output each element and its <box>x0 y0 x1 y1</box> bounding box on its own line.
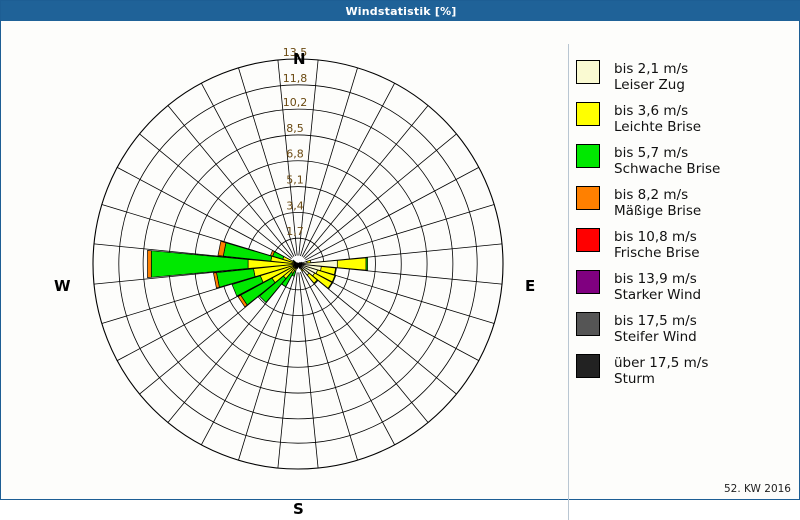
legend-label: bis 8,2 m/sMäßige Brise <box>614 186 701 219</box>
legend-label: über 17,5 m/sSturm <box>614 354 708 387</box>
grid-spoke <box>303 270 428 422</box>
legend-color-swatch <box>576 270 600 294</box>
legend-beaufort-name: Starker Wind <box>614 287 701 303</box>
grid-spoke <box>305 167 478 260</box>
compass-label-west: W <box>54 277 71 295</box>
legend-item: bis 2,1 m/sLeiser Zug <box>576 60 791 93</box>
legend-color-swatch <box>576 102 600 126</box>
compass-label-south: S <box>293 500 304 518</box>
legend-label: bis 17,5 m/sSteifer Wind <box>614 312 697 345</box>
legend-color-swatch <box>576 354 600 378</box>
windrose-petals <box>148 241 368 307</box>
legend-item: bis 17,5 m/sSteifer Wind <box>576 312 791 345</box>
legend-beaufort-name: Leichte Brise <box>614 119 701 135</box>
radial-tick-label: 10,2 <box>283 96 308 109</box>
legend-speed-range: bis 17,5 m/s <box>614 313 697 329</box>
grid-spoke <box>168 106 293 258</box>
radial-tick-label: 5,1 <box>286 174 304 187</box>
window-title: Windstatistik [%] <box>345 5 456 18</box>
legend-item: über 17,5 m/sSturm <box>576 354 791 387</box>
grid-spoke <box>140 134 292 259</box>
window-title-bar: Windstatistik [%] <box>1 1 800 21</box>
plot-area: 1,73,45,16,88,510,211,813,5 N S W E bis … <box>2 22 799 499</box>
legend-speed-range: bis 8,2 m/s <box>614 187 701 203</box>
legend-item: bis 8,2 m/sMäßige Brise <box>576 186 791 219</box>
grid-spoke <box>306 204 494 261</box>
windrose-wedge <box>148 250 152 277</box>
legend-beaufort-name: Frische Brise <box>614 245 700 261</box>
legend-speed-range: bis 2,1 m/s <box>614 61 688 77</box>
legend-beaufort-name: Sturm <box>614 371 708 387</box>
legend-beaufort-name: Steifer Wind <box>614 329 697 345</box>
legend-item: bis 10,8 m/sFrische Brise <box>576 228 791 261</box>
radial-tick-label: 1,7 <box>286 225 304 238</box>
grid-spoke <box>302 83 395 256</box>
legend-speed-range: bis 13,9 m/s <box>614 271 701 287</box>
radial-tick-labels: 1,73,45,16,88,510,211,813,5 <box>283 46 308 238</box>
legend-label: bis 3,6 m/sLeichte Brise <box>614 102 701 135</box>
compass-label-north: N <box>293 50 306 68</box>
legend-item: bis 5,7 m/sSchwache Brise <box>576 144 791 177</box>
legend-color-swatch <box>576 312 600 336</box>
radial-tick-label: 3,4 <box>286 199 304 212</box>
legend-beaufort-name: Mäßige Brise <box>614 203 701 219</box>
grid-spoke <box>303 106 428 258</box>
legend-color-swatch <box>576 144 600 168</box>
legend-color-swatch <box>576 60 600 84</box>
legend-divider <box>568 44 569 520</box>
grid-spoke <box>201 83 294 256</box>
legend-label: bis 2,1 m/sLeiser Zug <box>614 60 688 93</box>
windrose-window: Windstatistik [%] 1,73,45,16,88,510,211,… <box>0 0 800 500</box>
grid-spoke <box>117 167 290 260</box>
legend-label: bis 5,7 m/sSchwache Brise <box>614 144 720 177</box>
grid-spoke <box>304 134 456 259</box>
grid-spoke <box>302 271 395 444</box>
windrose-wedge <box>366 258 368 271</box>
grid-spoke <box>278 272 297 468</box>
legend-color-swatch <box>576 228 600 252</box>
legend-speed-range: bis 3,6 m/s <box>614 103 701 119</box>
radial-tick-label: 6,8 <box>286 148 304 161</box>
footer-note: 52. KW 2016 <box>724 483 791 495</box>
compass-label-east: E <box>525 277 535 295</box>
legend: bis 2,1 m/sLeiser Zugbis 3,6 m/sLeichte … <box>576 60 791 396</box>
radial-tick-label: 11,8 <box>283 72 308 85</box>
legend-speed-range: über 17,5 m/s <box>614 355 708 371</box>
legend-speed-range: bis 5,7 m/s <box>614 145 720 161</box>
grid-spoke <box>300 68 357 256</box>
legend-label: bis 13,9 m/sStarker Wind <box>614 270 701 303</box>
legend-beaufort-name: Leiser Zug <box>614 77 688 93</box>
grid-spoke <box>300 272 357 460</box>
legend-beaufort-name: Schwache Brise <box>614 161 720 177</box>
legend-item: bis 3,6 m/sLeichte Brise <box>576 102 791 135</box>
grid-spoke <box>299 272 318 468</box>
legend-speed-range: bis 10,8 m/s <box>614 229 700 245</box>
legend-label: bis 10,8 m/sFrische Brise <box>614 228 700 261</box>
legend-color-swatch <box>576 186 600 210</box>
windrose-chart: 1,73,45,16,88,510,211,813,5 <box>2 22 568 499</box>
legend-item: bis 13,9 m/sStarker Wind <box>576 270 791 303</box>
radial-tick-label: 8,5 <box>286 122 304 135</box>
